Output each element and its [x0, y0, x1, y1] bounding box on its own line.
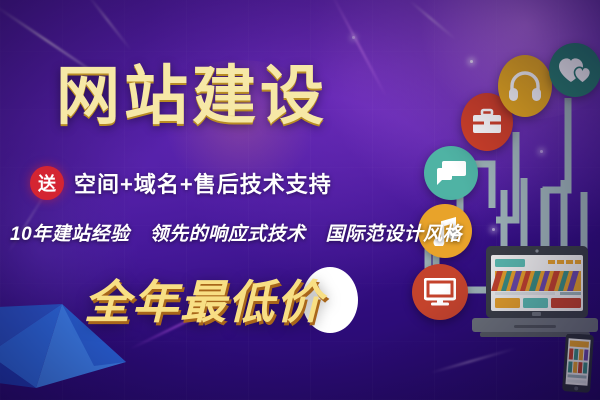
offer-row: 送 空间+域名+售后技术支持: [30, 166, 332, 200]
page-title: 网站建设: [56, 64, 328, 128]
smartphone-device: [560, 334, 596, 396]
gift-badge: 送: [30, 166, 64, 200]
headline: 全年最低价: [84, 266, 324, 332]
feature-list: 10年建站经验 领先的响应式技术 国际范设计风格: [10, 219, 462, 246]
chat-icon: [424, 146, 478, 200]
feature-item: 10年建站经验: [10, 219, 130, 246]
promo-banner: 网站建设 送 空间+域名+售后技术支持 10年建站经验 领先的响应式技术 国际范…: [0, 0, 600, 400]
monitor-icon: [412, 264, 468, 320]
feature-item: 国际范设计风格: [326, 219, 463, 246]
feature-item: 领先的响应式技术: [150, 219, 306, 246]
headphones-icon: [498, 55, 552, 117]
light-streak: [410, 0, 457, 40]
hearts-icon: [549, 43, 600, 97]
offer-text: 空间+域名+售后技术支持: [74, 167, 332, 199]
light-streak: [87, 0, 131, 50]
sparkle: [352, 36, 355, 39]
light-streak: [329, 0, 387, 97]
